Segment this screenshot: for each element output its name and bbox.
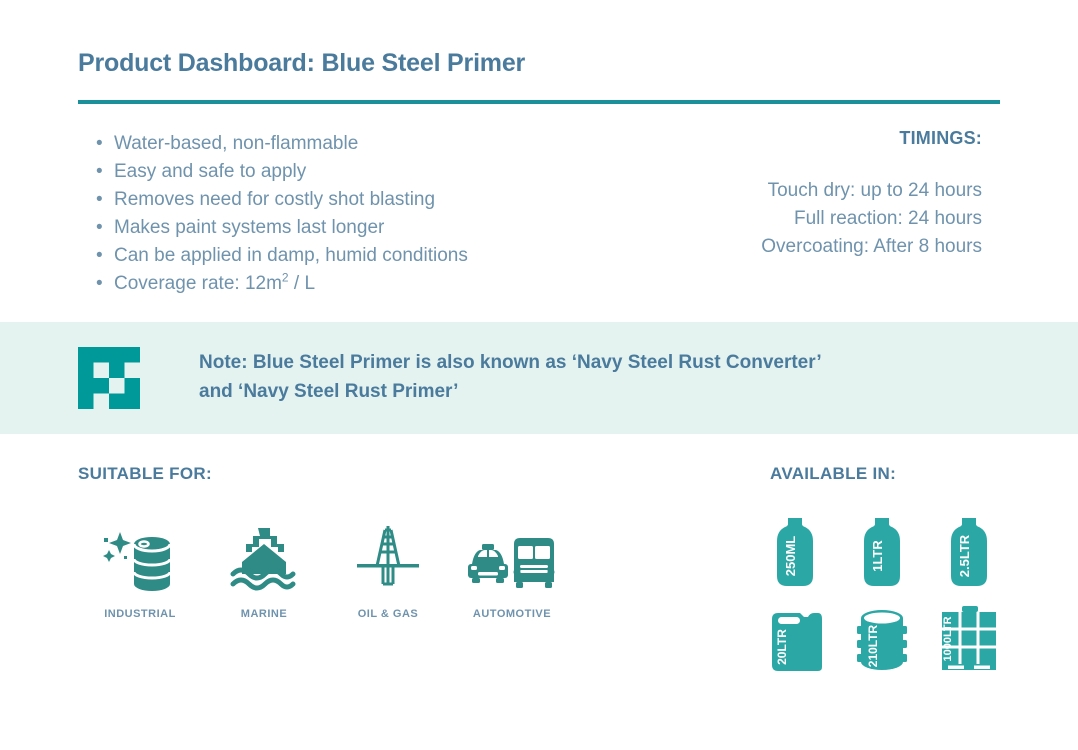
note-line-2: and ‘Navy Steel Rust Primer’ [199, 377, 959, 406]
list-item: • Removes need for costly shot blasting [90, 186, 610, 214]
ibc-tank-icon: 1000LTR [938, 606, 1000, 674]
pack-size-label: 20LTR [775, 629, 789, 665]
bottle-icon: 2.5LTR [945, 516, 993, 588]
list-item: • Can be applied in damp, humid conditio… [90, 242, 610, 270]
available-in-block: AVAILABLE IN: [770, 464, 1050, 484]
timing-line: Full reaction: 24 hours [622, 205, 982, 233]
header: Product Dashboard: Blue Steel Primer [78, 48, 1000, 78]
suitable-for-title: SUITABLE FOR: [78, 464, 638, 484]
pack-size-label: 2.5LTR [957, 534, 972, 577]
suitable-item-label: AUTOMOTIVE [473, 608, 551, 620]
pack-size-label: 1LTR [870, 540, 885, 572]
drum-icon: 210LTR [853, 606, 911, 674]
timings-block: TIMINGS: Touch dry: up to 24 hours Full … [622, 128, 982, 261]
pack-item-20ltr: 20LTR [752, 600, 839, 680]
pack-size-label: 250ML [783, 536, 798, 577]
available-in-title: AVAILABLE IN: [770, 464, 1050, 484]
pack-size-label: 1000LTR [942, 616, 954, 661]
ft-logo-icon [78, 345, 140, 411]
list-item: • Easy and safe to apply [90, 158, 610, 186]
bullet-icon: • [96, 130, 103, 158]
oil-derrick-icon [353, 520, 423, 592]
suitable-for-block: SUITABLE FOR: [78, 464, 638, 484]
bullet-icon: • [96, 214, 103, 242]
page-title: Product Dashboard: Blue Steel Primer [78, 48, 1000, 78]
list-item: • Makes paint systems last longer [90, 214, 610, 242]
bottle-icon: 1LTR [858, 516, 906, 588]
pack-item-1ltr: 1LTR [839, 512, 926, 592]
features-block: • Water-based, non-flammable • Easy and … [90, 130, 610, 298]
suitable-for-icon-row: INDUSTRIAL MARINE [78, 520, 638, 620]
bullet-icon: • [96, 186, 103, 214]
pack-item-210ltr: 210LTR [839, 600, 926, 680]
timings-title: TIMINGS: [622, 128, 982, 149]
taxi-bus-icon [464, 520, 560, 592]
pack-item-250ml: 250ML [752, 512, 839, 592]
bottle-icon: 250ML [771, 516, 819, 588]
feature-text: Water-based, non-flammable [114, 133, 358, 154]
suitable-item-label: INDUSTRIAL [104, 608, 176, 620]
list-item: • Water-based, non-flammable [90, 130, 610, 158]
available-in-grid: 250ML 1LTR 2.5LTR 20LTR [752, 512, 1012, 680]
suitable-item-oilgas: OIL & GAS [326, 520, 450, 620]
bullet-icon: • [96, 242, 103, 270]
feature-text: Makes paint systems last longer [114, 217, 384, 238]
product-dashboard-page: Product Dashboard: Blue Steel Primer • W… [0, 0, 1078, 750]
feature-text: Removes need for costly shot blasting [114, 189, 435, 210]
feature-text: Coverage rate: 12m [114, 273, 282, 294]
bullet-icon: • [96, 270, 103, 298]
feature-text: Can be applied in damp, humid conditions [114, 245, 468, 266]
suitable-item-marine: MARINE [202, 520, 326, 620]
oil-drum-sparkle-icon [100, 520, 180, 592]
note-line-1: Note: Blue Steel Primer is also known as… [199, 348, 959, 377]
timing-line: Overcoating: After 8 hours [622, 233, 982, 261]
note-text: Note: Blue Steel Primer is also known as… [199, 348, 959, 406]
list-item: • Coverage rate: 12m2 / L [90, 270, 610, 298]
suitable-item-label: MARINE [241, 608, 287, 620]
jerrycan-icon: 20LTR [766, 607, 824, 673]
pack-item-2-5ltr: 2.5LTR [925, 512, 1012, 592]
pack-item-1000ltr: 1000LTR [925, 600, 1012, 680]
ship-waves-icon [228, 520, 300, 592]
pack-size-label: 210LTR [866, 624, 880, 667]
timing-line: Touch dry: up to 24 hours [622, 177, 982, 205]
feature-text: Easy and safe to apply [114, 161, 306, 182]
suitable-item-industrial: INDUSTRIAL [78, 520, 202, 620]
feature-list: • Water-based, non-flammable • Easy and … [90, 130, 610, 298]
title-divider [78, 100, 1000, 104]
bullet-icon: • [96, 158, 103, 186]
suitable-item-label: OIL & GAS [358, 608, 419, 620]
coverage-unit: / L [289, 273, 315, 294]
coverage-superscript: 2 [282, 271, 289, 285]
suitable-item-automotive: AUTOMOTIVE [450, 520, 574, 620]
